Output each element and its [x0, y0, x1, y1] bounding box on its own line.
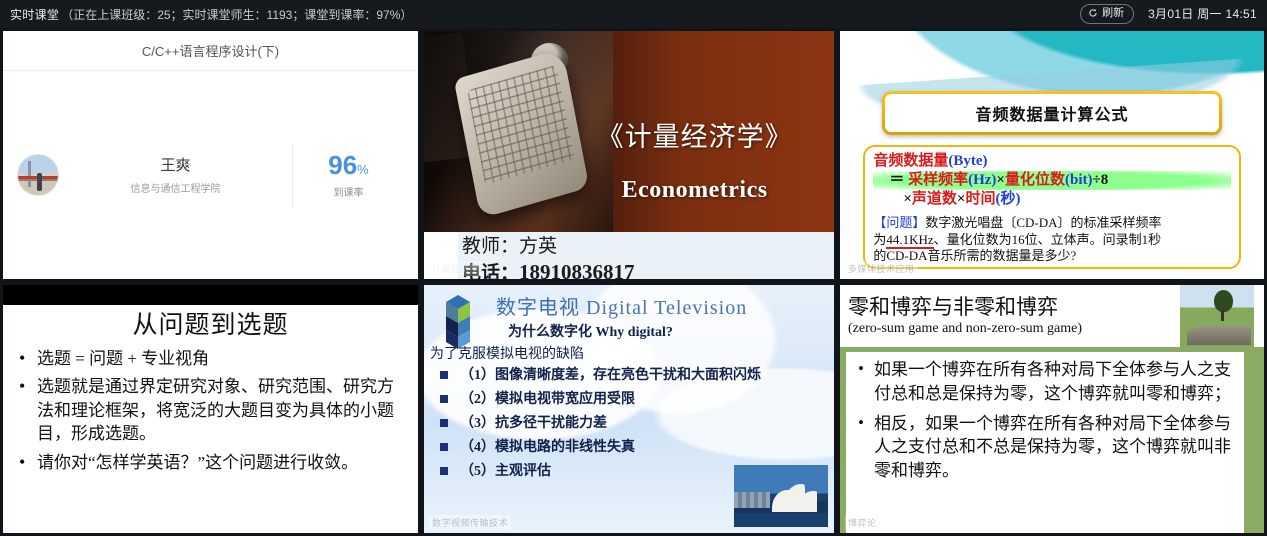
classroom-stats: （正在上课班级：25；实时课堂师生：1193；课堂到课率：97%）: [61, 6, 412, 23]
econometrics-teacher: 教师：方英: [462, 234, 834, 260]
course-title: C/C++语言程序设计(下): [3, 31, 418, 71]
econometrics-title-cn: 《计量经济学》: [568, 115, 822, 154]
teacher-avatar: [17, 154, 59, 196]
zsg-bullet-list: 如果一个博弈在所有各种对局下全体参与人之支付总和总是保持为零，这个博弈就叫零和博…: [852, 358, 1236, 483]
list-item: 选题 = 问题 + 专业视角: [17, 347, 406, 370]
phone-number: 18910836817: [519, 260, 635, 282]
formula-body-box: 音频数据量(Byte) ＝ 采样频率(Hz)×量化位数(bit)÷8 ×声道数×…: [863, 145, 1240, 269]
zero-sum-game-slide: 零和博弈与非零和博弈 (zero-sum game and non-zero-s…: [840, 285, 1264, 533]
zsg-title-en: (zero-sum game and non-zero-sum game): [848, 321, 1082, 337]
dtv-title-cn: 数字电视: [496, 297, 580, 319]
dtv-lead-text: 为了克服模拟电视的缺陷: [430, 343, 584, 363]
question-text-2a: 为: [873, 232, 886, 247]
classroom-tile-course-card[interactable]: C/C++语言程序设计(下) 王爽 信息与通信工程学院 96% 到课率: [0, 28, 421, 282]
attendance-rate-label: 到课率: [293, 184, 404, 199]
formula-heading-box: 音频数据量计算公式: [882, 91, 1221, 136]
formula-times-2: ×: [903, 191, 912, 207]
list-item: （1）图像清晰度差，存在亮色干扰和大面积闪烁: [436, 365, 761, 386]
tree-landscape-photo: [1180, 285, 1254, 347]
zsg-title-cn: 零和博弈与非零和博弈: [848, 291, 1058, 321]
footer-left-chip: [424, 232, 458, 279]
question-line-1: 【问题】数字激光唱盘〔CD-DA〕的标准采样频率: [873, 215, 1230, 232]
datetime-display: 3月01日 周一 14:51: [1148, 5, 1257, 22]
formula-unit-byte: (Byte): [948, 153, 987, 169]
formula-unit-bit: (bit): [1065, 172, 1093, 188]
course-card: C/C++语言程序设计(下) 王爽 信息与通信工程学院 96% 到课率: [3, 31, 418, 279]
attendance-rate-value: 96%: [293, 152, 404, 178]
topic-slide-title: 从问题到选题: [3, 305, 418, 341]
topic-selection-slide: 从问题到选题 选题 = 问题 + 专业视角 选题就是通过界定研究对象、研究范围、…: [3, 305, 418, 536]
econometrics-title-en: Econometrics: [568, 177, 822, 204]
question-text-2b: 、量化位数为16位、立体声。问录制1秒: [934, 232, 1162, 247]
list-item: （3）抗多径干扰能力差: [436, 413, 761, 434]
formula-divide-8: ÷8: [1093, 172, 1109, 188]
formula-unit-hz: (Hz): [968, 172, 996, 188]
refresh-label: 刷新: [1102, 6, 1124, 21]
topic-bullet-list: 选题 = 问题 + 专业视角 选题就是通过界定研究对象、研究范围、研究方法和理论…: [17, 347, 406, 474]
classroom-tile-digital-tv[interactable]: 数字电视 Digital Television 为什么数字化 Why digit…: [421, 282, 837, 536]
dtv-subtitle: 为什么数字化 Why digital?: [508, 321, 673, 341]
econometrics-slide: 《计量经济学》 Econometrics 教师：方英 电话：1891083681…: [424, 31, 834, 279]
econometrics-footer: 教师：方英 电话：18910836817: [424, 232, 834, 279]
classroom-tile-topic-selection[interactable]: 从问题到选题 选题 = 问题 + 专业视角 选题就是通过界定研究对象、研究范围、…: [0, 282, 421, 536]
formula-equals: ＝: [889, 172, 904, 188]
teacher-department: 信息与通信工程学院: [59, 180, 292, 195]
zsg-panel-inner: 如果一个博弈在所有各种对局下全体参与人之支付总和总是保持为零，这个博弈就叫零和博…: [846, 352, 1244, 533]
zsg-header: 零和博弈与非零和博弈 (zero-sum game and non-zero-s…: [840, 285, 1264, 347]
list-item: 相反，如果一个博弈在所有各种对局下全体参与人之支付总和不总是保持为零，这个博弈就…: [852, 412, 1236, 483]
dtv-title: 数字电视 Digital Television: [496, 291, 747, 320]
classroom-tile-econometrics[interactable]: 《计量经济学》 Econometrics 教师：方英 电话：1891083681…: [421, 28, 837, 282]
top-status-bar: 实时课堂 （正在上课班级：25；实时课堂师生：1193；课堂到课率：97%） 刷…: [0, 0, 1267, 28]
classroom-tile-audio-formula[interactable]: 音频数据量计算公式 音频数据量(Byte) ＝ 采样频率(Hz)×量化位数(bi…: [837, 28, 1267, 282]
question-text-1: 数字激光唱盘〔CD-DA〕的标准采样频率: [925, 215, 1161, 230]
zsg-content-panel: 如果一个博弈在所有各种对局下全体参与人之支付总和总是保持为零，这个博弈就叫零和博…: [840, 347, 1252, 533]
list-item: 选题就是通过界定研究对象、研究范围、研究方法和理论框架，将宽泛的大题目变为具体的…: [17, 375, 406, 445]
econometrics-phone: 电话：18910836817: [462, 260, 834, 282]
attendance-rate-unit: %: [357, 162, 369, 177]
list-item: （4）模拟电路的非线性失真: [436, 437, 761, 458]
formula-times-1: ×: [996, 172, 1005, 188]
sydney-opera-house-photo: [734, 465, 828, 527]
formula-line-2: ＝ 采样频率(Hz)×量化位数(bit)÷8: [873, 171, 1230, 190]
question-tag: 【问题】: [873, 215, 925, 230]
formula-heading: 音频数据量计算公式: [885, 94, 1218, 133]
formula-unit-second: (秒): [995, 191, 1020, 207]
list-item: （2）模拟电视带宽应用受限: [436, 389, 761, 410]
app-title: 实时课堂: [10, 6, 59, 23]
course-card-body: 王爽 信息与通信工程学院 96% 到课率: [3, 71, 418, 279]
list-item: （5）主观评估: [436, 461, 761, 482]
formula-term-duration: 时间: [965, 191, 995, 207]
list-item: 如果一个博弈在所有各种对局下全体参与人之支付总和总是保持为零，这个博弈就叫零和博…: [852, 358, 1236, 406]
formula-term-audio-data: 音频数据量: [873, 153, 948, 169]
refresh-icon: [1088, 8, 1098, 18]
topbar-right-group: 刷新 3月01日 周一 14:51: [1080, 4, 1257, 24]
formula-term-bit-depth: 量化位数: [1005, 172, 1065, 188]
attendance-rate-block: 96% 到课率: [292, 144, 404, 207]
dtv-bullet-list: （1）图像清晰度差，存在亮色干扰和大面积闪烁 （2）模拟电视带宽应用受限 （3）…: [436, 365, 761, 485]
attendance-rate-number: 96: [328, 150, 357, 180]
classroom-live-grid: C/C++语言程序设计(下) 王爽 信息与通信工程学院 96% 到课率: [0, 28, 1267, 536]
question-block: 【问题】数字激光唱盘〔CD-DA〕的标准采样频率 为44.1KHz、量化位数为1…: [873, 215, 1230, 266]
formula-line-3: ×声道数×时间(秒): [873, 190, 1230, 209]
phone-label: 电话：: [462, 263, 519, 282]
refresh-button[interactable]: 刷新: [1080, 4, 1134, 24]
formula-line-1: 音频数据量(Byte): [873, 152, 1230, 171]
dtv-title-en: Digital Television: [586, 297, 747, 319]
formula-term-channels: 声道数: [912, 191, 957, 207]
question-line-2: 为44.1KHz、量化位数为16位、立体声。问录制1秒: [873, 232, 1230, 249]
classroom-tile-zero-sum-game[interactable]: 零和博弈与非零和博弈 (zero-sum game and non-zero-s…: [837, 282, 1267, 536]
formula-term-sample-rate: 采样频率: [908, 172, 968, 188]
digital-tv-slide: 数字电视 Digital Television 为什么数字化 Why digit…: [424, 285, 834, 533]
teacher-name: 王爽: [59, 155, 292, 178]
zsg-accent-bar: [1252, 347, 1264, 533]
audio-formula-slide: 音频数据量计算公式 音频数据量(Byte) ＝ 采样频率(Hz)×量化位数(bi…: [840, 31, 1264, 279]
list-item: 请你对“怎样学英语？”这个问题进行收敛。: [17, 451, 406, 474]
teacher-info: 王爽 信息与通信工程学院: [59, 155, 292, 195]
question-sample-rate-value: 44.1KHz: [886, 232, 933, 249]
question-line-3: 的CD-DA音乐所需的数据量是多少?: [873, 248, 1230, 265]
topbar-left-group: 实时课堂 （正在上课班级：25；实时课堂师生：1193；课堂到课率：97%）: [10, 6, 412, 23]
